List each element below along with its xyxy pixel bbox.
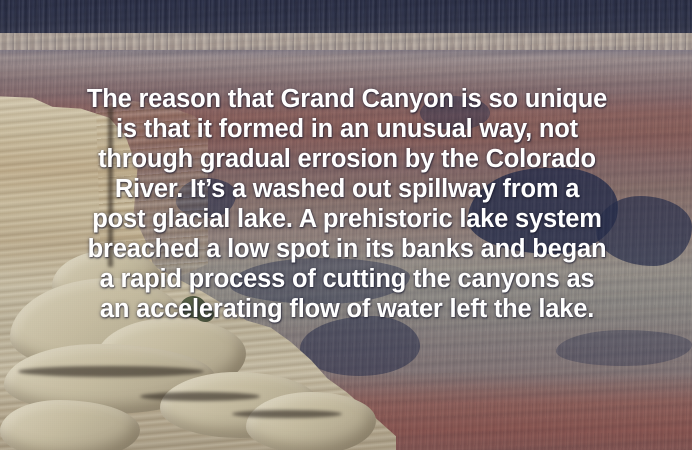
rock-crevice xyxy=(18,366,204,377)
caption-text: The reason that Grand Canyon is so uniqu… xyxy=(20,84,674,324)
foreground-boulder xyxy=(246,392,376,450)
rock-crevice xyxy=(140,392,260,401)
rock-crevice xyxy=(232,410,342,418)
screenshot-canvas: The reason that Grand Canyon is so uniqu… xyxy=(0,0,692,450)
